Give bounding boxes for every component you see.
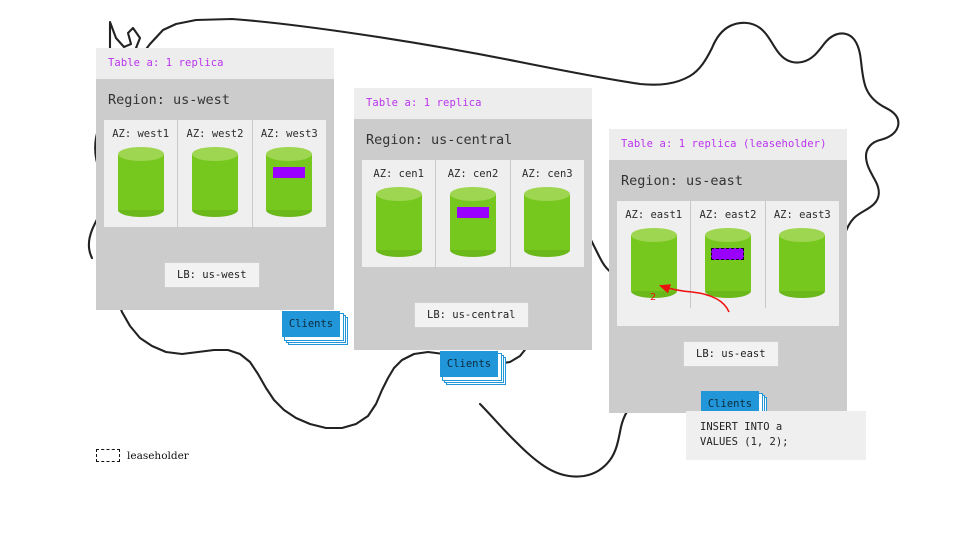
legend: leaseholder bbox=[96, 449, 189, 462]
insert-routing-arrow bbox=[661, 286, 729, 312]
replica-block-cen2 bbox=[457, 207, 489, 218]
legend-label: leaseholder bbox=[127, 450, 189, 462]
arrow-step-label: 2 bbox=[650, 292, 656, 303]
sql-statement-note: INSERT INTO a VALUES (1, 2); bbox=[686, 411, 866, 460]
replica-block-east2-leaseholder bbox=[711, 248, 744, 260]
replica-block-west3 bbox=[273, 167, 305, 178]
leaseholder-swatch-icon bbox=[96, 449, 120, 462]
